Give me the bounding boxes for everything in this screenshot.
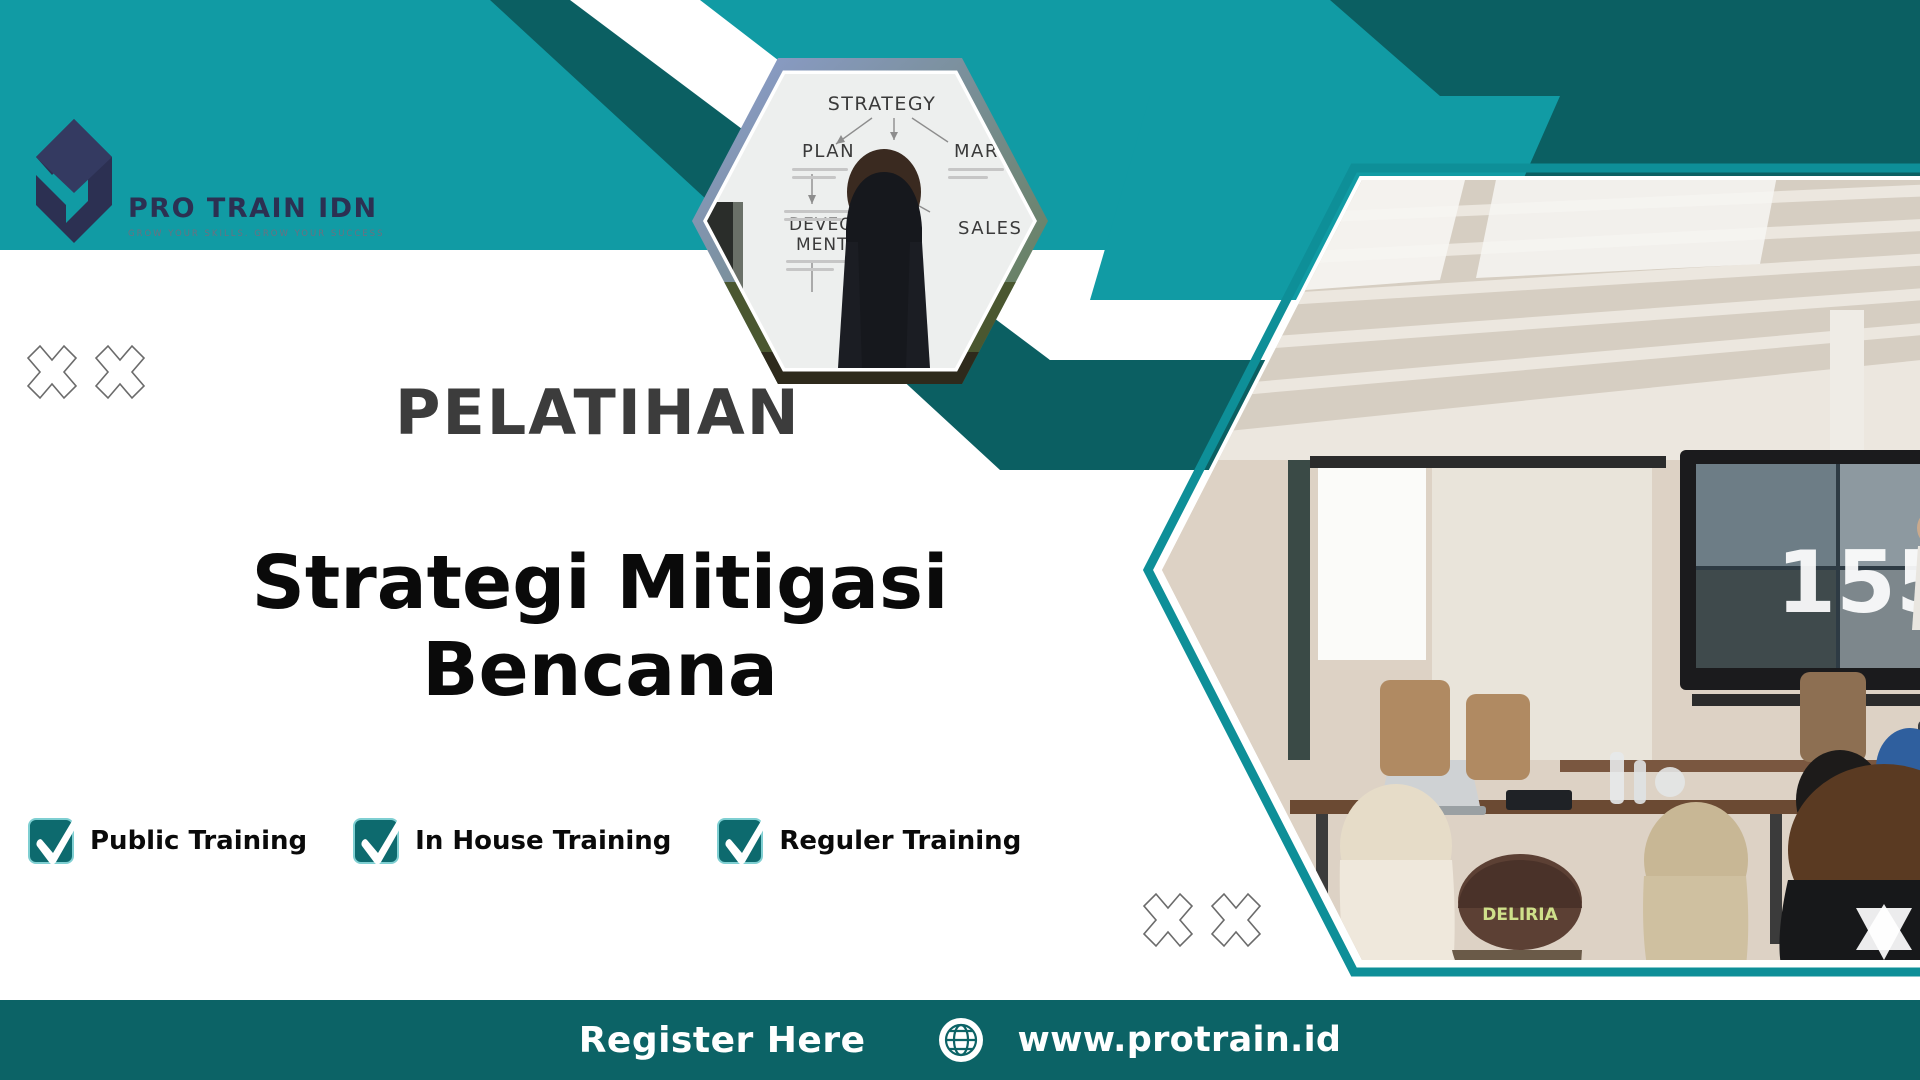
- logo-wordmark: PRO TRAIN IDN: [128, 195, 384, 222]
- training-option-reguler[interactable]: Reguler Training: [717, 818, 1021, 864]
- page-kicker: PELATIHAN: [395, 382, 801, 444]
- check-box-icon[interactable]: [28, 818, 74, 864]
- cross-outline-icon-group-left: [26, 340, 148, 408]
- register-here-label[interactable]: Register Here: [579, 1020, 866, 1061]
- svg-text:MENT: MENT: [796, 235, 849, 255]
- training-option-public[interactable]: Public Training: [28, 818, 307, 864]
- footer-bar: Register Here www.protrain.id: [0, 1000, 1920, 1080]
- brand-logo: PRO TRAIN IDN GROW YOUR SKILLS. GROW YOU…: [28, 115, 358, 247]
- poster-canvas: PRO TRAIN IDN GROW YOUR SKILLS. GROW YOU…: [0, 0, 1920, 1080]
- page-title-line-1: Strategi Mitigasi: [40, 540, 1160, 627]
- training-option-label: Public Training: [90, 826, 307, 856]
- chevron-arrow-logo-icon: [28, 115, 120, 247]
- page-title: Strategi Mitigasi Bencana: [40, 540, 1160, 715]
- classroom-seminar-photo: 155: [1140, 160, 1920, 980]
- training-option-in-house[interactable]: In House Training: [353, 818, 671, 864]
- cap-text: DELIRIA: [1482, 905, 1558, 925]
- logo-tagline: GROW YOUR SKILLS. GROW YOUR SUCCESS: [128, 229, 384, 239]
- screen-number-text: 155: [1776, 533, 1920, 633]
- training-option-label: Reguler Training: [779, 826, 1021, 856]
- training-options-list: Public Training In House Training Regule…: [28, 818, 1021, 864]
- svg-text:SALES: SALES: [958, 218, 1022, 239]
- website-url[interactable]: www.protrain.id: [1018, 1020, 1342, 1060]
- check-box-icon[interactable]: [353, 818, 399, 864]
- training-option-label: In House Training: [415, 826, 671, 856]
- check-box-icon[interactable]: [717, 818, 763, 864]
- svg-text:PLAN: PLAN: [802, 141, 855, 162]
- page-title-line-2: Bencana: [40, 627, 1160, 714]
- globe-icon: [938, 1017, 984, 1063]
- svg-text:STRATEGY: STRATEGY: [828, 93, 937, 115]
- strategy-whiteboard-photo: STRATEGY PLAN MARKET DEVEOP- MENT SALES: [686, 52, 1054, 390]
